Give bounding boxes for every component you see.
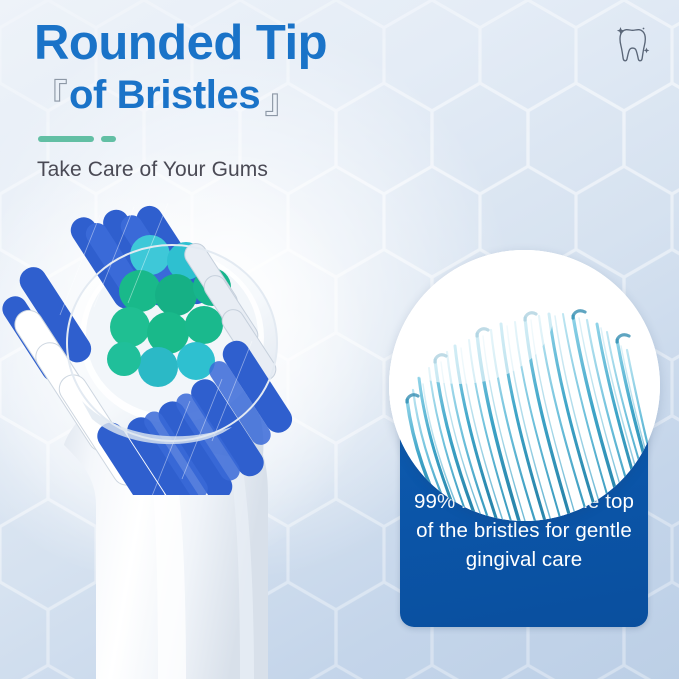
- page-title-line1: Rounded Tip: [34, 18, 454, 69]
- page-subtitle: Take Care of Your Gums: [37, 158, 454, 182]
- electric-toothbrush-head: [0, 195, 400, 679]
- accent-dash-long: [38, 136, 94, 142]
- product-feature-graphic: Rounded Tip 『 of Bristles 』 Take Care of…: [0, 0, 679, 679]
- tooth-icon: [611, 22, 655, 68]
- background-glow: [0, 150, 370, 580]
- page-title-line2-row: 『 of Bristles 』: [34, 71, 454, 119]
- header: Rounded Tip 『 of Bristles 』 Take Care of…: [34, 18, 454, 182]
- accent-dashes: [38, 136, 454, 142]
- bracket-close-icon: 』: [264, 85, 298, 119]
- bracket-open-icon: 『: [34, 80, 68, 114]
- bristle-tips-macro-circle: [389, 250, 660, 521]
- accent-dash-short: [101, 136, 116, 142]
- page-title-line2: of Bristles: [69, 74, 260, 116]
